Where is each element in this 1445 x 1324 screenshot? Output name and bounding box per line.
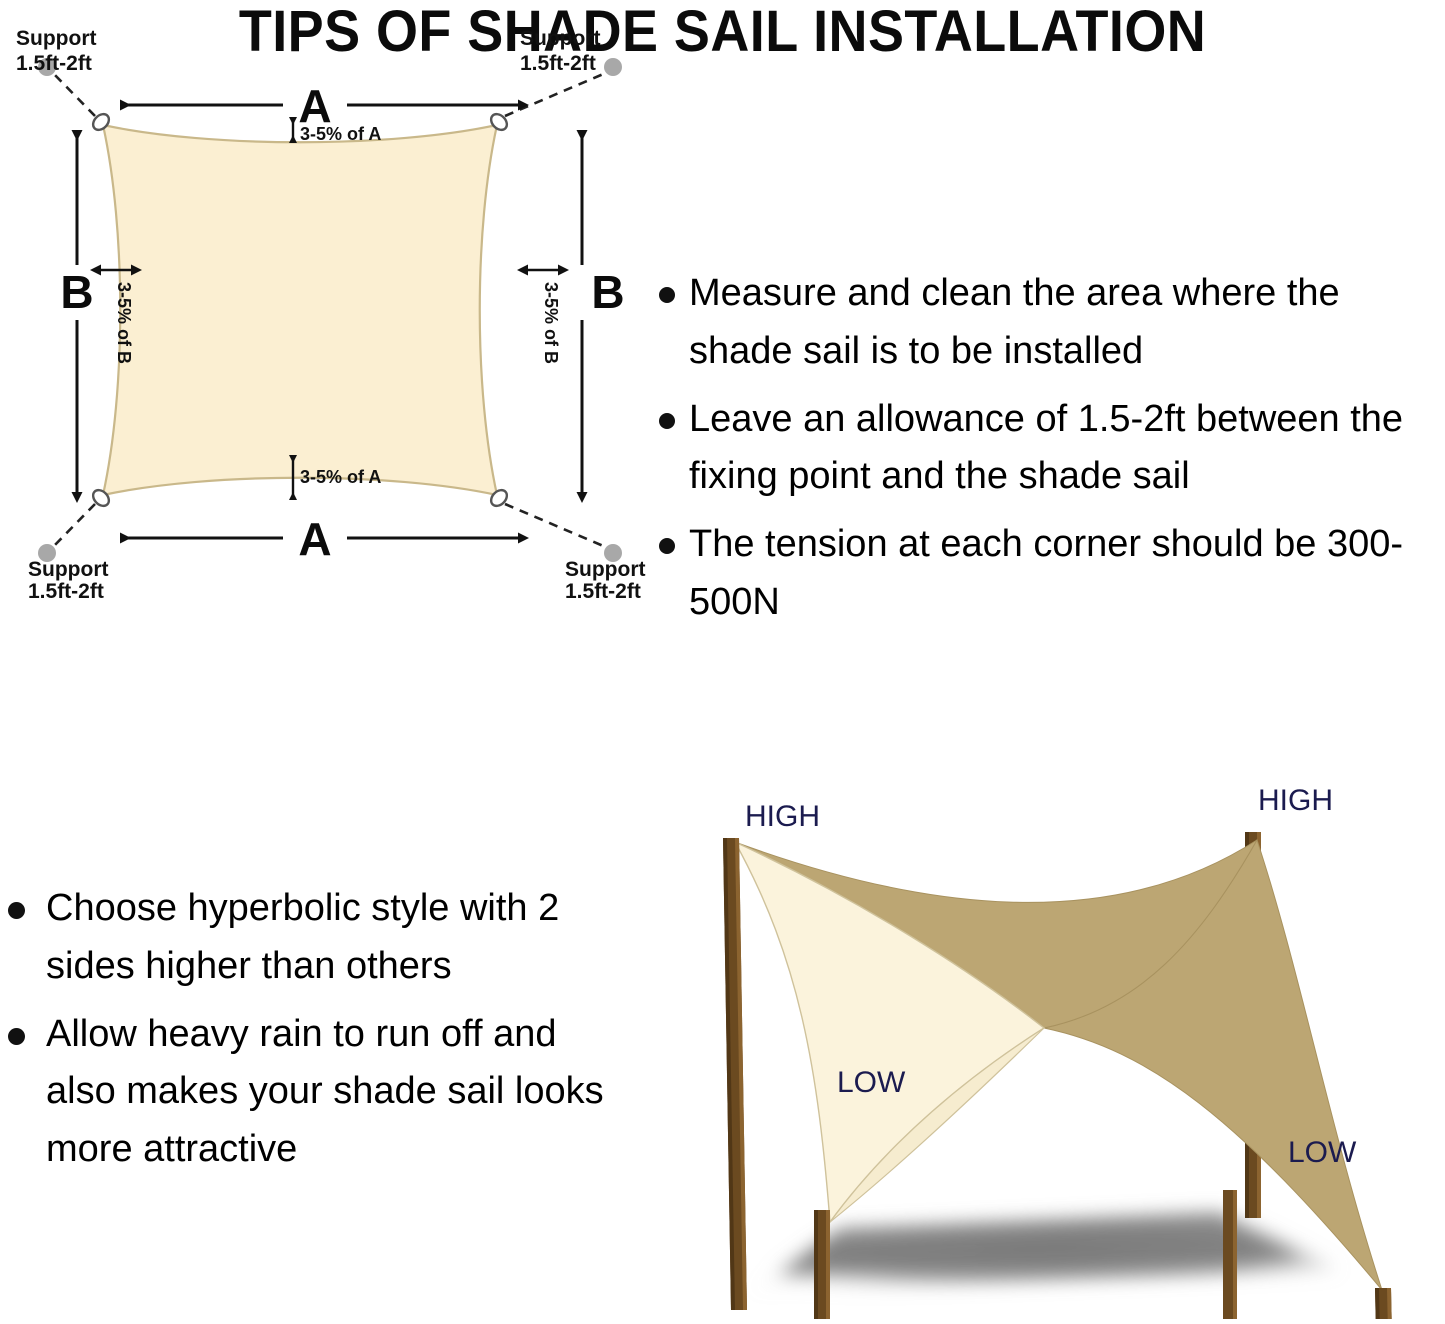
callout-left-edge-curve-label: 3-5% of B <box>114 282 134 364</box>
dimension-label-b-right: B <box>591 266 624 318</box>
label-low-right: LOW <box>1288 1136 1357 1169</box>
list-item-text: Leave an allowance of 1.5-2ft between th… <box>689 391 1445 507</box>
list-item-text: The tension at each corner should be 300… <box>689 516 1445 632</box>
support-label-bottom-left: Support 1.5ft-2ft <box>28 558 108 600</box>
support-label-bottom-left-line2: 1.5ft-2ft <box>28 580 104 600</box>
callout-right-edge-curve-label: 3-5% of B <box>541 282 561 364</box>
installation-tips-panel: Measure and clean the area where the sha… <box>645 265 1445 665</box>
support-dot-top-right <box>604 58 622 76</box>
support-label-top-right-line2: 1.5ft-2ft <box>520 52 596 75</box>
list-item: Measure and clean the area where the sha… <box>645 265 1445 381</box>
bullet-dot-icon <box>659 413 675 429</box>
bullet-dot-icon <box>8 1028 25 1045</box>
label-high-left: HIGH <box>745 800 820 833</box>
list-item: The tension at each corner should be 300… <box>645 516 1445 632</box>
list-item-text: Measure and clean the area where the sha… <box>689 265 1445 381</box>
support-label-top-right-line1: Support <box>520 27 600 50</box>
bullet-dot-icon <box>8 902 25 919</box>
support-label-top-left-line1: Support <box>16 27 96 50</box>
label-low-left: LOW <box>837 1066 906 1099</box>
callout-bottom-edge-curve-label: 3-5% of A <box>300 467 381 487</box>
post-mid-right <box>1223 1190 1237 1319</box>
installation-tips-list: Measure and clean the area where the sha… <box>645 265 1445 632</box>
rectangle-sail-diagram-svg: A 3-5% of A B 3-5% of B B 3-5% of B <box>0 0 660 600</box>
shade-sail-shape <box>103 125 497 495</box>
list-item: Choose hyperbolic style with 2 sides hig… <box>0 880 630 996</box>
support-label-bottom-right-line1: Support <box>565 558 645 581</box>
callout-top-edge-curve-label: 3-5% of A <box>300 124 381 144</box>
support-label-top-left: Support 1.5ft-2ft <box>16 27 96 75</box>
callout-left-edge-curve: 3-5% of B <box>101 270 134 364</box>
post-low-left <box>814 1210 830 1319</box>
dimension-b-left: B <box>60 130 93 492</box>
dimension-label-b-left: B <box>60 266 93 318</box>
rectangle-sail-diagram-panel: A 3-5% of A B 3-5% of B B 3-5% of B <box>0 0 660 600</box>
hyperbolic-style-tips-list: Choose hyperbolic style with 2 sides hig… <box>0 880 630 1179</box>
dimension-a-bottom: A <box>120 513 518 565</box>
post-low-right <box>1375 1288 1397 1319</box>
bullet-dot-icon <box>659 287 675 303</box>
hyperbolic-sail-svg: HIGH HIGH LOW LOW <box>640 770 1445 1319</box>
bullet-dot-icon <box>659 538 675 554</box>
hyperbolic-sail-illustration-panel: HIGH HIGH LOW LOW <box>640 770 1445 1319</box>
dimension-b-right: B <box>582 130 625 492</box>
label-high-right: HIGH <box>1258 784 1333 817</box>
support-label-bottom-right-line2: 1.5ft-2ft <box>565 580 641 600</box>
hyperbolic-tips-panel: Choose hyperbolic style with 2 sides hig… <box>0 880 630 1210</box>
callout-right-edge-curve: 3-5% of B <box>528 270 561 364</box>
support-label-top-right: Support 1.5ft-2ft <box>520 27 600 75</box>
support-label-bottom-right: Support 1.5ft-2ft <box>565 558 645 600</box>
dimension-label-a-bottom: A <box>298 513 331 565</box>
list-item: Allow heavy rain to run off and also mak… <box>0 1006 630 1179</box>
post-high-left <box>723 838 747 1310</box>
ground-shadow <box>750 1212 1340 1290</box>
list-item-text: Choose hyperbolic style with 2 sides hig… <box>46 880 630 996</box>
support-label-bottom-left-line1: Support <box>28 558 108 581</box>
list-item: Leave an allowance of 1.5-2ft between th… <box>645 391 1445 507</box>
list-item-text: Allow heavy rain to run off and also mak… <box>46 1006 630 1179</box>
support-label-top-left-line2: 1.5ft-2ft <box>16 52 92 75</box>
